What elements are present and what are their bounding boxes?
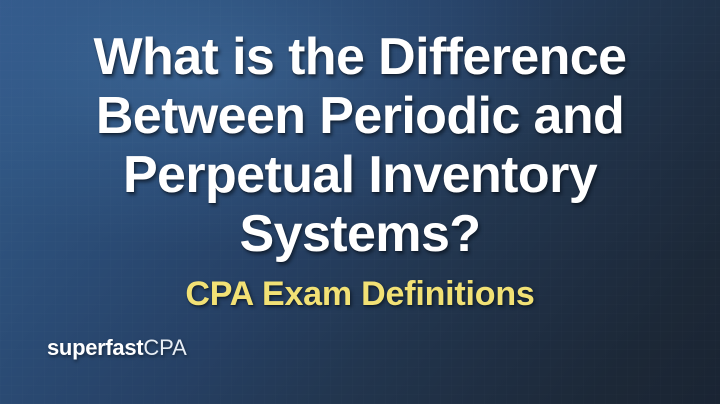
title-block: What is the Difference Between Periodic … [0, 28, 720, 264]
video-thumbnail: What is the Difference Between Periodic … [0, 0, 720, 404]
title-line-3: Perpetual Inventory [0, 146, 720, 205]
brand-logo: superfastCPA [47, 335, 187, 361]
title-line-2: Between Periodic and [0, 87, 720, 146]
brand-logo-bold-text: superfast [47, 335, 143, 360]
title-line-4: Systems? [0, 205, 720, 264]
title-line-1: What is the Difference [0, 28, 720, 87]
thumbnail-content: What is the Difference Between Periodic … [0, 0, 720, 404]
subtitle: CPA Exam Definitions [0, 274, 720, 314]
brand-logo-light-text: CPA [143, 335, 186, 360]
